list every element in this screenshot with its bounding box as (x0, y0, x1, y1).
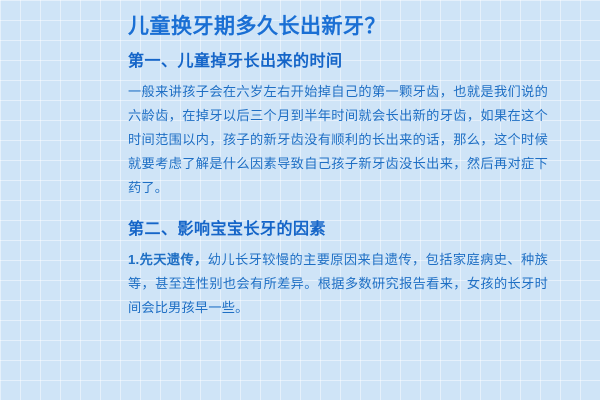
section-paragraph-2: 1.先天遗传，幼儿长牙较慢的主要原因来自遗传，包括家庭病史、种族等，甚至连性别也… (128, 248, 548, 320)
article-content: 儿童换牙期多久长出新牙？ 第一、儿童掉牙长出来的时间 一般来讲孩子会在六岁左右开… (0, 0, 600, 320)
section-heading-2: 第二、影响宝宝长牙的因素 (128, 218, 548, 242)
section-paragraph-2-lead: 1.先天遗传， (128, 252, 208, 267)
section-heading-1: 第一、儿童掉牙长出来的时间 (128, 50, 548, 74)
section-paragraph-1: 一般来讲孩子会在六岁左右开始掉自己的第一颗牙齿，也就是我们说的六龄齿，在掉牙以后… (128, 80, 548, 200)
page-title: 儿童换牙期多久长出新牙？ (128, 12, 548, 42)
article-page: 儿童换牙期多久长出新牙？ 第一、儿童掉牙长出来的时间 一般来讲孩子会在六岁左右开… (0, 0, 600, 400)
